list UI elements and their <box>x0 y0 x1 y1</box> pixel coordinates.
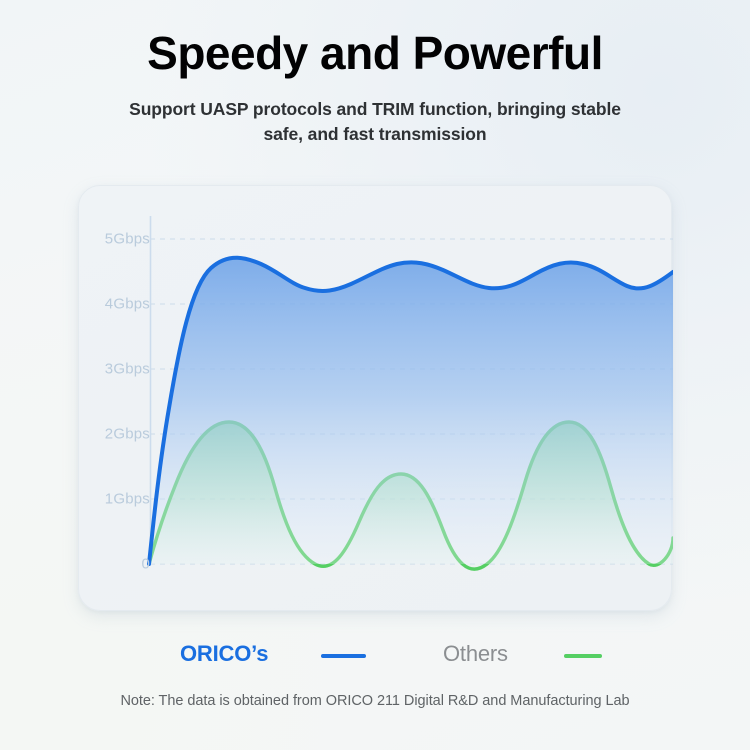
ytick-label-zero: 0 <box>78 556 150 573</box>
page-subtitle: Support UASP protocols and TRIM function… <box>0 97 750 148</box>
ytick-label-3gbps: 3Gbps <box>78 361 150 378</box>
legend-item-orico: ORICO’s <box>180 635 268 673</box>
legend-item-others: Others <box>443 635 508 673</box>
legend-swatch-others <box>564 654 602 658</box>
page-title: Speedy and Powerful <box>0 28 750 80</box>
legend-label-others: Others <box>443 643 508 665</box>
speed-comparison-area-chart <box>79 186 673 612</box>
chart-legend: ORICO’s Others <box>0 635 750 673</box>
chart-note: Note: The data is obtained from ORICO 21… <box>0 693 750 709</box>
legend-label-orico: ORICO’s <box>180 643 268 665</box>
legend-swatch-orico <box>321 654 366 658</box>
ytick-label-2gbps: 2Gbps <box>78 426 150 443</box>
ytick-label-4gbps: 4Gbps <box>78 296 150 313</box>
ytick-label-5gbps: 5Gbps <box>78 231 150 248</box>
subtitle-line-1: Support UASP protocols and TRIM function… <box>129 99 621 119</box>
subtitle-line-2: safe, and fast transmission <box>0 122 750 147</box>
chart-card: 5Gbps 4Gbps 3Gbps 2Gbps 1Gbps 0 <box>78 185 672 611</box>
chart-y-axis-labels: 5Gbps 4Gbps 3Gbps 2Gbps 1Gbps 0 <box>75 186 150 612</box>
page-header: Speedy and Powerful Support UASP protoco… <box>0 0 750 147</box>
orico-area-fill <box>149 258 673 564</box>
ytick-label-1gbps: 1Gbps <box>78 491 150 508</box>
chart-plot-area: 5Gbps 4Gbps 3Gbps 2Gbps 1Gbps 0 <box>79 186 673 612</box>
